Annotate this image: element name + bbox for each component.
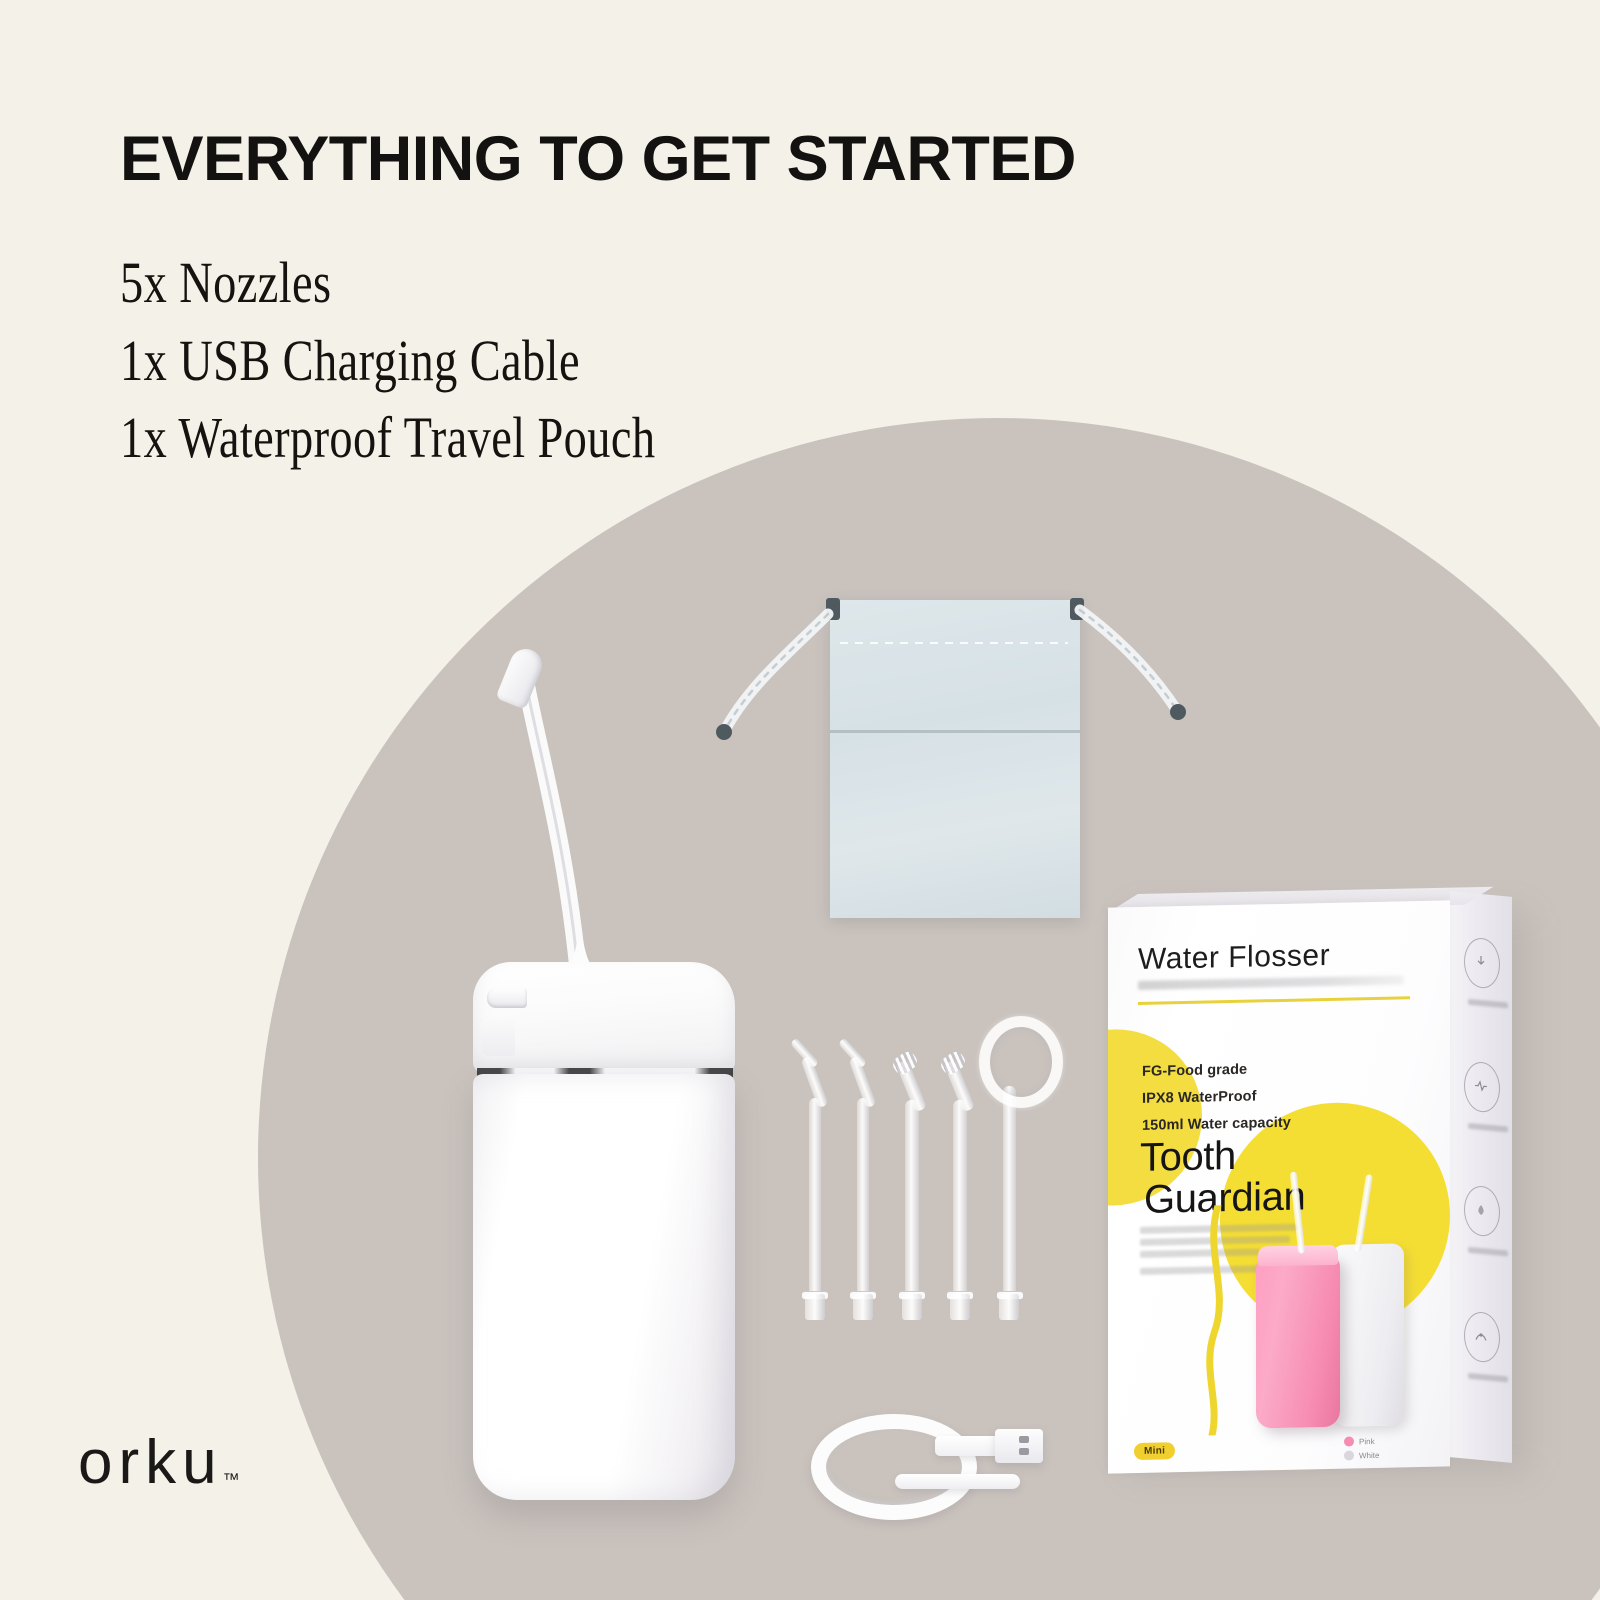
cable-loop [811, 1414, 977, 1520]
box-art-white-device [1332, 1243, 1404, 1427]
brand-logo: orku™ [78, 1432, 240, 1494]
mode-pulse-glyph [1474, 1078, 1488, 1093]
mode-soft-glyph [1474, 954, 1488, 969]
cable-tail [895, 1474, 1020, 1489]
box-mini-badge: Mini [1134, 1442, 1175, 1460]
box-product-title: Water Flosser [1138, 939, 1330, 977]
product-feature-graphic: EVERYTHING TO GET STARTED 5x Nozzles 1x … [0, 0, 1600, 1600]
pouch-drawstring-cords [700, 580, 1200, 940]
nozzle-set [795, 1030, 1055, 1320]
brand-line-1: Tooth [1140, 1133, 1305, 1179]
box-color-swatches: Pink White [1344, 1436, 1379, 1465]
retail-packaging-box: Water Flosser FG-Food grade IPX8 WaterPr… [1108, 888, 1538, 1478]
swatch-dot-white [1344, 1450, 1354, 1460]
box-art-pink-device [1256, 1255, 1340, 1429]
mode-soft-label [1468, 999, 1508, 1009]
spec-item: FG-Food grade [1142, 1056, 1291, 1086]
list-item: 1x Waterproof Travel Pouch [120, 399, 655, 477]
list-item: 5x Nozzles [120, 244, 655, 322]
swatch-label: White [1359, 1450, 1379, 1459]
swatch-label: Pink [1359, 1436, 1375, 1445]
mode-normal-glyph [1474, 1202, 1488, 1217]
box-contents-list: 5x Nozzles 1x USB Charging Cable 1x Wate… [120, 244, 789, 477]
box-yellow-rule [1138, 996, 1410, 1005]
device-side-button [481, 1018, 515, 1056]
trademark-symbol: ™ [223, 1470, 240, 1489]
box-side-panel [1450, 891, 1512, 1463]
list-item: 1x USB Charging Cable [120, 322, 655, 400]
usb-a-connector [995, 1429, 1043, 1463]
mode-pulse-label [1468, 1123, 1508, 1133]
box-front-panel: Water Flosser FG-Food grade IPX8 WaterPr… [1108, 900, 1450, 1473]
page-title: EVERYTHING TO GET STARTED [120, 128, 1076, 191]
mode-strong-label [1468, 1373, 1508, 1383]
mode-strong-glyph [1474, 1328, 1488, 1343]
swatch-row: Pink [1344, 1436, 1379, 1447]
swatch-dot-pink [1344, 1436, 1354, 1446]
mode-normal-label [1468, 1247, 1508, 1257]
spec-item: IPX8 WaterProof [1142, 1083, 1291, 1113]
box-spec-list: FG-Food grade IPX8 WaterProof 150ml Wate… [1142, 1056, 1291, 1140]
waterproof-travel-pouch [700, 580, 1200, 940]
device-water-tank-body [473, 1074, 735, 1500]
water-flosser-device [455, 640, 755, 1510]
brand-logo-text: orku [78, 1428, 223, 1497]
usb-charging-cable [805, 1400, 1045, 1520]
device-release-tab [487, 988, 527, 1008]
swatch-row: White [1344, 1450, 1379, 1461]
box-tagline-blur [1138, 975, 1404, 990]
box-yellow-squiggle [1194, 1205, 1240, 1436]
